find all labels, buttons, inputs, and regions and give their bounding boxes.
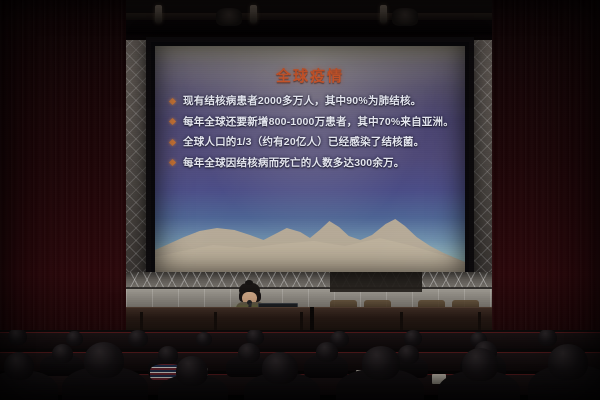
bullet-text: 每年全球因结核病而死亡的人数多达300余万。 <box>183 157 404 169</box>
audience-head <box>8 330 27 345</box>
stage-light-icon <box>250 5 257 23</box>
stage-light-icon <box>392 8 418 26</box>
stage-light-icon <box>216 8 242 26</box>
slide-mountain-graphic <box>155 210 465 278</box>
list-item: 每年全球因结核病而死亡的人数多达300余万。 <box>169 156 455 171</box>
diamond-bullet-icon <box>169 159 176 166</box>
lecture-hall-photo: 全球疫情 现有结核病患者2000多万人，其中90%为肺结核。 每年全球还要新增8… <box>0 0 600 400</box>
audience-head <box>128 330 148 347</box>
audience-head <box>548 344 588 380</box>
audience-head <box>316 342 338 362</box>
audience-head <box>362 346 400 380</box>
slide-title: 全球疫情 <box>155 65 465 86</box>
slide-bullet-list: 现有结核病患者2000多万人，其中90%为肺结核。 每年全球还要新增800-10… <box>169 94 455 176</box>
list-item: 每年全球还要新增800-1000万患者，其中70%来自亚洲。 <box>169 115 455 130</box>
audience-head <box>84 342 124 378</box>
bullet-text: 每年全球还要新增800-1000万患者，其中70%来自亚洲。 <box>183 116 454 128</box>
diamond-bullet-icon <box>169 118 176 125</box>
audience-head <box>462 348 498 381</box>
projected-slide: 全球疫情 现有结核病患者2000多万人，其中90%为肺结核。 每年全球还要新增8… <box>155 46 465 278</box>
list-item: 现有结核病患者2000多万人，其中90%为肺结核。 <box>169 94 455 109</box>
audience-head <box>52 344 73 363</box>
audience-head <box>538 330 557 346</box>
projection-screen: 全球疫情 现有结核病患者2000多万人，其中90%为肺结核。 每年全球还要新增8… <box>146 37 474 287</box>
back-wall-dark-panel <box>330 272 422 292</box>
audience-head <box>176 356 208 386</box>
audience-area <box>0 330 600 400</box>
audience-head <box>158 346 178 364</box>
bullet-text: 全球人口的1/3（约有20亿人）已经感染了结核菌。 <box>183 136 424 148</box>
stage-light-icon <box>155 5 162 23</box>
audience-head <box>196 332 212 346</box>
stage-curtain-right <box>492 0 600 352</box>
truss-lattice <box>126 272 492 288</box>
audience-head <box>398 345 419 364</box>
stage-curtain-left <box>0 0 126 352</box>
bullet-text: 现有结核病患者2000多万人，其中90%为肺结核。 <box>183 95 421 107</box>
audience-head <box>262 352 298 384</box>
stage-light-icon <box>380 5 387 23</box>
side-truss-left <box>126 40 146 295</box>
diamond-bullet-icon <box>169 138 176 145</box>
audience-head <box>238 343 260 363</box>
list-item: 全球人口的1/3（约有20亿人）已经感染了结核菌。 <box>169 135 455 150</box>
diamond-bullet-icon <box>169 97 176 104</box>
audience-head <box>404 330 422 346</box>
audience-head <box>66 331 83 346</box>
audience-head <box>4 352 34 380</box>
